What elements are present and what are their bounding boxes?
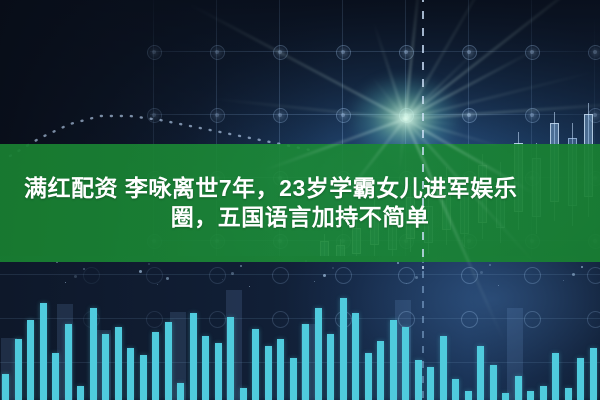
- volume-bar: [415, 360, 422, 400]
- volume-bar: [2, 374, 9, 400]
- sparkle: [406, 283, 407, 284]
- volume-bar: [127, 348, 134, 400]
- volume-bar: [240, 388, 247, 400]
- volume-bar: [277, 339, 284, 400]
- sparkle: [323, 274, 326, 277]
- volume-bar: [202, 336, 209, 400]
- volume-bar: [227, 317, 234, 400]
- volume-bar: [27, 320, 34, 400]
- sparkle: [489, 264, 491, 266]
- volume-bar: [452, 379, 459, 400]
- headline-band: 满红配资 李咏离世7年，23岁学霸女儿进军娱乐 圈，五国语言加持不简单: [0, 144, 600, 262]
- sparkle: [415, 276, 418, 279]
- volume-bar: [302, 324, 309, 400]
- volume-bar: [515, 376, 522, 400]
- bar-node: [209, 311, 226, 328]
- bar-node: [335, 267, 352, 284]
- bar-node: [209, 267, 226, 284]
- sparkle: [563, 280, 564, 281]
- volume-bar: [577, 358, 584, 400]
- bar-node: [461, 311, 478, 328]
- volume-bar: [15, 339, 22, 400]
- bar-node: [587, 311, 600, 328]
- volume-bar: [190, 313, 197, 400]
- volume-bar: [102, 334, 109, 400]
- sparkle: [166, 277, 169, 280]
- volume-bar: [115, 327, 122, 400]
- volume-bar: [440, 336, 447, 400]
- sparkle: [572, 273, 575, 276]
- grid-node: [210, 45, 225, 60]
- volume-bar: [265, 346, 272, 400]
- volume-bar: [477, 346, 484, 400]
- volume-bar: [465, 391, 472, 400]
- volume-bar: [315, 308, 322, 400]
- volume-bar: [252, 329, 259, 400]
- banner-image: 满红配资 李咏离世7年，23岁学霸女儿进军娱乐 圈，五国语言加持不简单: [0, 0, 600, 400]
- sparkle: [480, 271, 483, 274]
- volume-bar: [502, 393, 509, 400]
- volume-bar: [527, 391, 534, 400]
- sparkle: [148, 263, 150, 265]
- volume-bar: [90, 308, 97, 400]
- sparkle: [498, 285, 499, 286]
- bar-node: [272, 311, 289, 328]
- bar-node: [587, 267, 600, 284]
- volume-bar: [152, 332, 159, 400]
- volume-bar: [590, 348, 597, 400]
- bar-node: [146, 267, 163, 284]
- headline-line-1: 满红配资 李咏离世7年，23岁学霸女儿进军娱乐: [24, 174, 517, 203]
- sparkle: [240, 265, 242, 267]
- volume-bar: [427, 367, 434, 400]
- volume-bar: [540, 386, 547, 400]
- volume-bar: [402, 327, 409, 400]
- volume-bar: [565, 388, 572, 400]
- bar-node: [524, 311, 541, 328]
- bar-node: [272, 267, 289, 284]
- volume-bar: [327, 334, 334, 400]
- volume-bar: [290, 358, 297, 400]
- volume-bar: [52, 353, 59, 400]
- volume-bar: [490, 365, 497, 400]
- volume-bar: [65, 324, 72, 400]
- volume-bar: [377, 341, 384, 400]
- sparkle: [581, 266, 583, 268]
- sparkle: [157, 284, 158, 285]
- sparkle: [332, 267, 334, 269]
- volume-bar: [177, 383, 184, 400]
- volume-bar: [140, 355, 147, 400]
- volume-bar: [352, 313, 359, 400]
- sparkle: [231, 272, 234, 275]
- headline-line-2: 圈，五国语言加持不简单: [171, 203, 430, 232]
- bar-node: [146, 311, 163, 328]
- volume-bar: [552, 353, 559, 400]
- volume-bar: [215, 343, 222, 400]
- bar-node: [83, 267, 100, 284]
- volume-bar: [365, 353, 372, 400]
- sparkle: [139, 270, 142, 273]
- volume-bar: [390, 320, 397, 400]
- volume-bar: [165, 322, 172, 400]
- volume-bar-chart: [0, 256, 600, 400]
- sparkle: [249, 286, 250, 287]
- sparkle: [74, 275, 77, 278]
- sparkle: [65, 282, 66, 283]
- sparkle: [397, 262, 399, 264]
- bar-chart-dashed-marker: [422, 256, 424, 400]
- grid-node: [147, 45, 162, 60]
- sparkle: [314, 281, 315, 282]
- bar-node: [398, 267, 415, 284]
- sparkle: [83, 268, 85, 270]
- volume-bar: [340, 298, 347, 400]
- sparkle: [222, 279, 223, 280]
- volume-bar: [77, 386, 84, 400]
- bar-node: [398, 311, 415, 328]
- volume-bar: [40, 303, 47, 400]
- bar-node: [524, 267, 541, 284]
